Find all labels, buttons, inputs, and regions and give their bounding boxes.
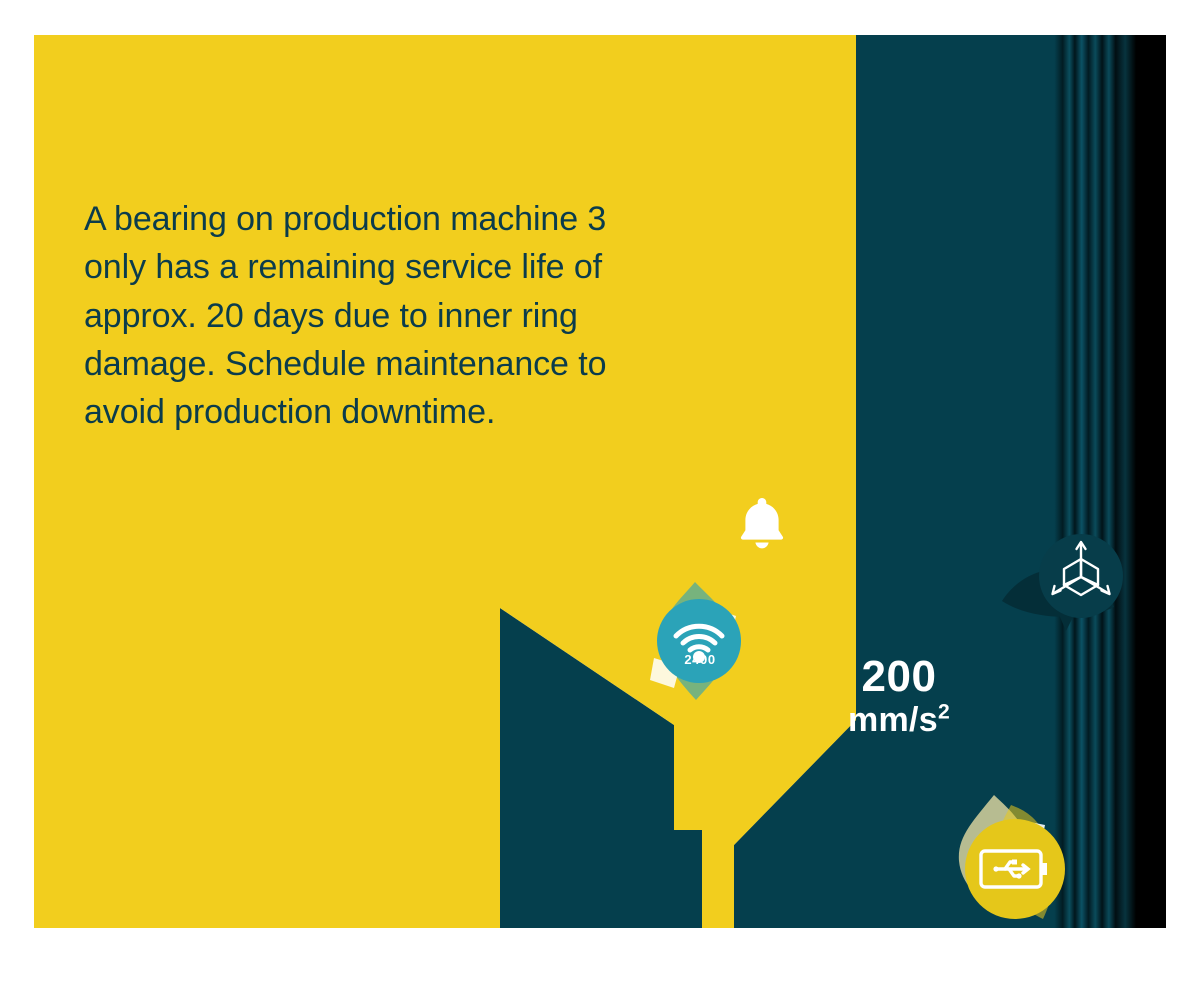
reading-unit: mm/s2 — [794, 703, 1004, 737]
vibration-reading: 200 mm/s2 — [794, 655, 1004, 737]
power-badge[interactable] — [939, 787, 1091, 928]
reading-unit-exponent: 2 — [938, 701, 950, 724]
connectivity-badge[interactable]: 2400 — [640, 580, 760, 702]
screenshot-root: A bearing on production machine 3 only h… — [0, 0, 1200, 981]
bell-icon — [729, 490, 795, 556]
alert-message-text: A bearing on production machine 3 only h… — [84, 195, 664, 436]
reading-value: 200 — [794, 655, 1004, 699]
yellow-lower-block — [34, 35, 500, 928]
reading-unit-base: mm/s — [848, 701, 938, 739]
wifi-pin-shape — [640, 580, 760, 702]
alert-badge[interactable] — [729, 490, 795, 556]
artwork-canvas: A bearing on production machine 3 only h… — [34, 35, 1166, 928]
power-pin-shape — [939, 787, 1091, 928]
wifi-badge-circle — [657, 599, 741, 683]
orientation-badge[interactable] — [996, 523, 1134, 631]
orientation-pin-shape — [996, 523, 1134, 631]
wifi-dot — [693, 651, 705, 663]
